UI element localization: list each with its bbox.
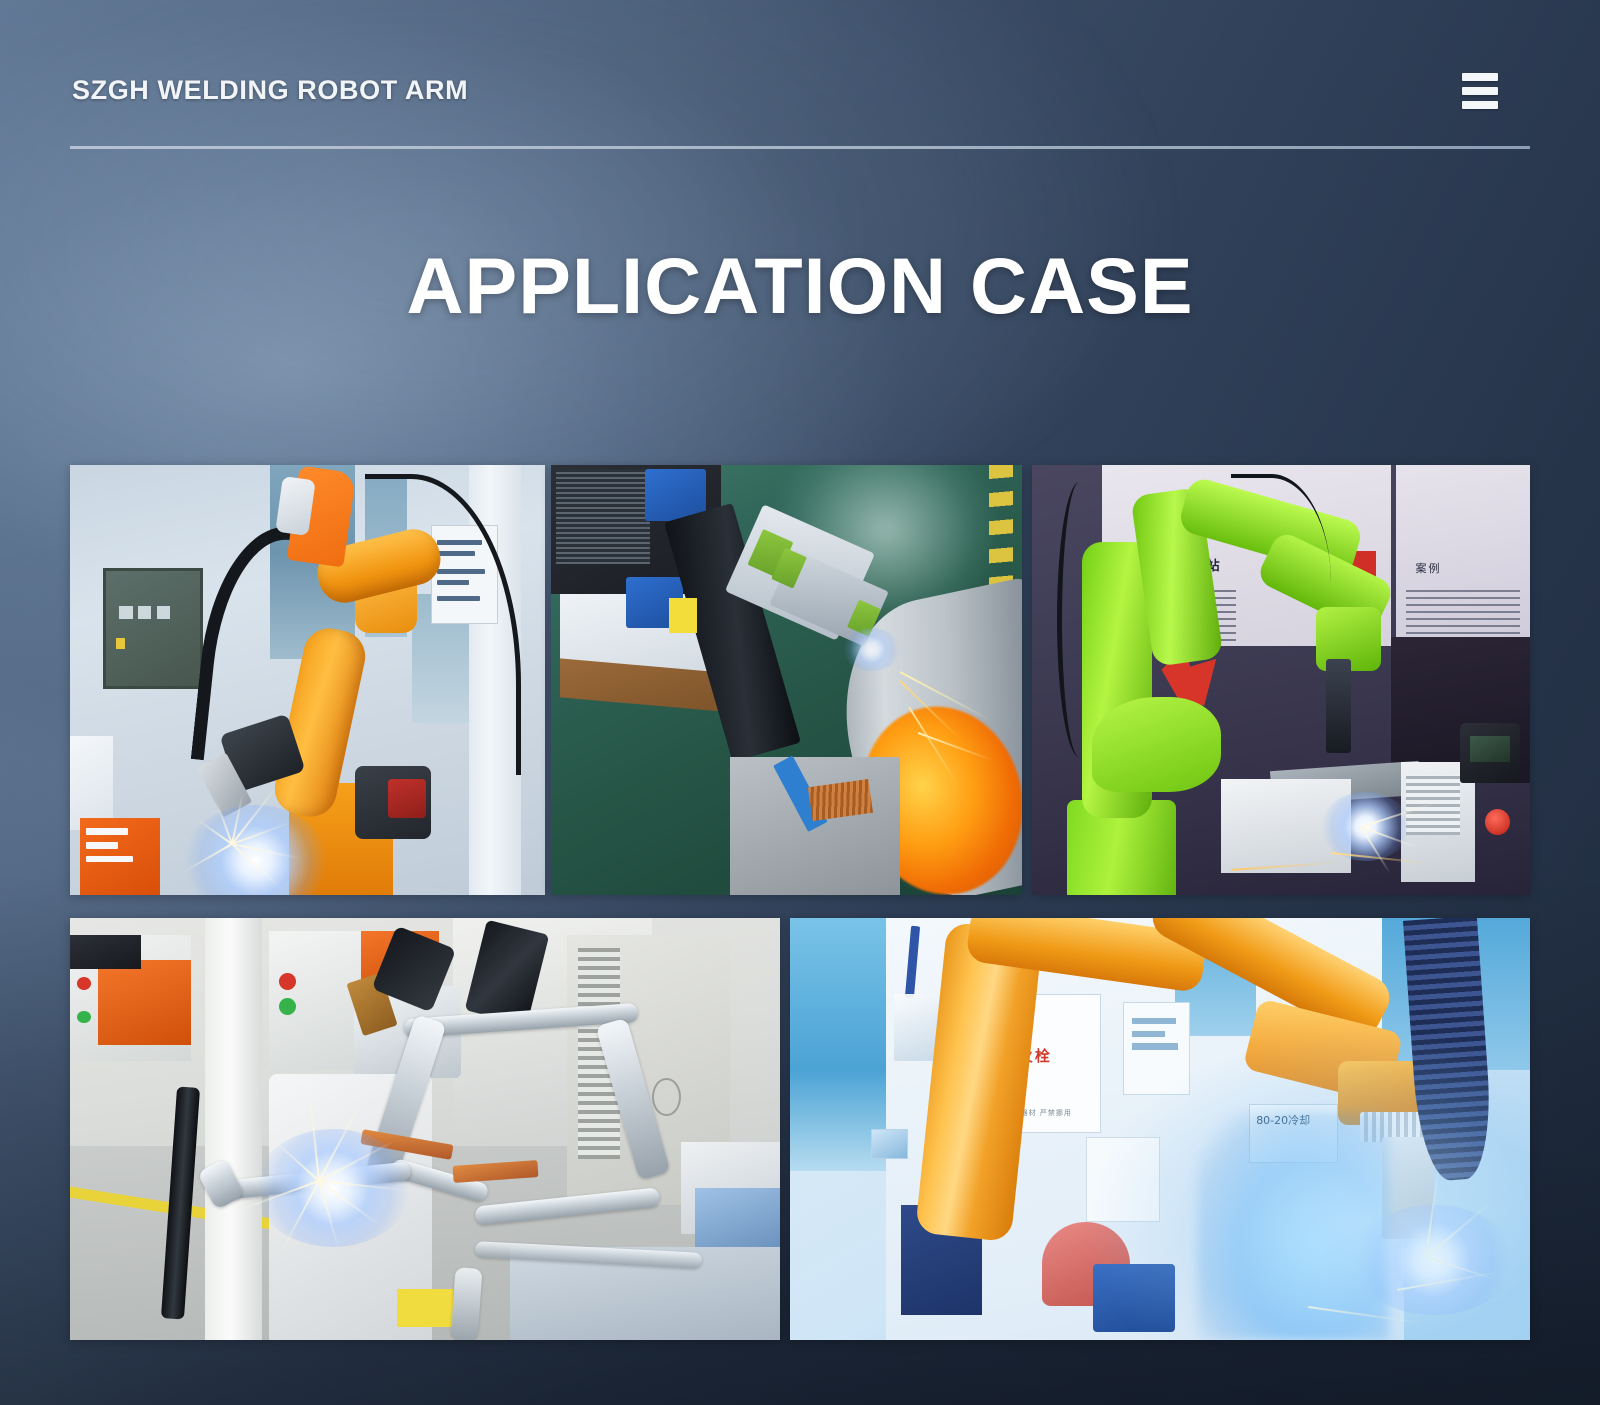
gallery-image-3[interactable]: 的焊接工作站 案例 bbox=[1032, 465, 1530, 895]
gallery-image-3-sign-text-secondary: 案例 bbox=[1415, 560, 1441, 576]
application-case-gallery: Orange six-axis industrial welding robot… bbox=[0, 0, 1600, 1405]
gallery-image-4[interactable]: Automated spot welding of a bent stainle… bbox=[70, 918, 780, 1340]
scene-laser-cutting-cylinder bbox=[551, 465, 1022, 895]
scene-orange-arm-blue-arc: 消火栓 消防器材 严禁挪用 80-20冷却 bbox=[790, 918, 1530, 1340]
gallery-image-5[interactable]: 消火栓 消防器材 严禁挪用 80-20冷却 bbox=[790, 918, 1530, 1340]
scene-green-welding-robot: 的焊接工作站 案例 bbox=[1032, 465, 1530, 895]
scene-orange-welding-robot bbox=[70, 465, 545, 895]
gallery-image-2[interactable]: Robotic laser cutting head machining a s… bbox=[551, 465, 1022, 895]
gallery-image-1[interactable]: Orange six-axis industrial welding robot… bbox=[70, 465, 545, 895]
scene-tube-frame-welding bbox=[70, 918, 780, 1340]
